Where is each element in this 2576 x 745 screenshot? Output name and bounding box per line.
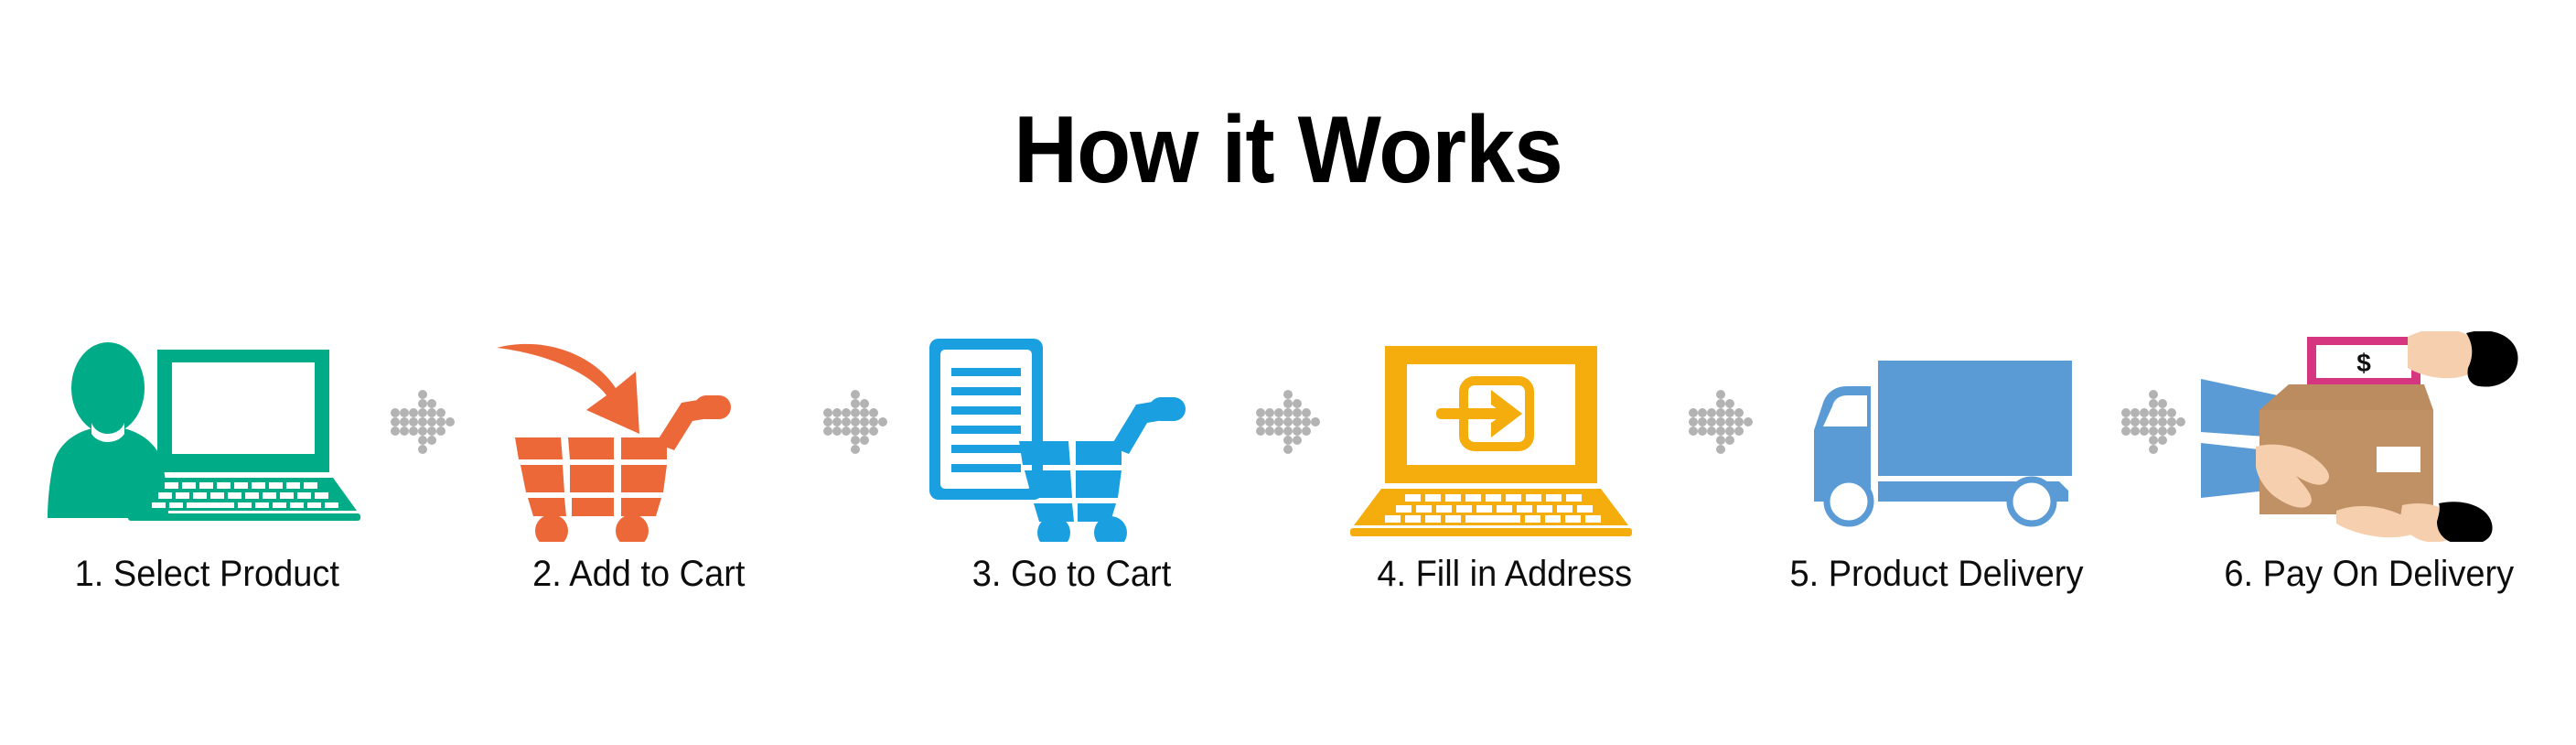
step-label: 4. Fill in Address — [1377, 553, 1632, 595]
separator-dotted-arrow-2 — [816, 302, 895, 595]
step-label: 1. Select Product — [74, 553, 338, 595]
how-it-works-infographic: How it Works — [0, 0, 2576, 745]
step-6-pay-on-delivery[interactable]: $ — [2199, 302, 2539, 595]
delivery-truck-icon — [1766, 331, 2107, 542]
dotted-arrow-right-icon — [1689, 390, 1753, 454]
add-to-cart-svg — [469, 331, 810, 542]
separator-dotted-arrow-5 — [2114, 302, 2193, 595]
step-2-add-to-cart[interactable]: 2. Add to Cart — [469, 302, 810, 595]
separator-dotted-arrow-4 — [1681, 302, 1760, 595]
dotted-arrow-right-icon — [823, 390, 887, 454]
dotted-arrow-right-icon — [2121, 390, 2185, 454]
hands-exchanging-box-and-cash-icon: $ — [2199, 331, 2539, 542]
step-label: 5. Product Delivery — [1790, 553, 2084, 595]
separator-dotted-arrow-3 — [1249, 302, 1327, 595]
step-label: 6. Pay On Delivery — [2225, 553, 2515, 595]
person-with-laptop-svg — [37, 331, 377, 542]
separator-dotted-arrow-1 — [383, 302, 462, 595]
fill-address-svg — [1334, 331, 1674, 542]
dotted-arrow-right-icon — [1256, 390, 1320, 454]
step-label: 3. Go to Cart — [972, 553, 1172, 595]
delivery-truck-svg — [1766, 331, 2107, 542]
go-to-cart-svg — [902, 331, 1242, 542]
step-3-go-to-cart[interactable]: 3. Go to Cart — [902, 302, 1242, 595]
pay-on-delivery-svg: $ — [2199, 331, 2539, 542]
laptop-with-login-arrow-icon — [1334, 331, 1674, 542]
person-with-laptop-icon — [37, 331, 377, 542]
step-4-fill-in-address[interactable]: 4. Fill in Address — [1334, 302, 1674, 595]
arrow-into-shopping-cart-icon — [469, 331, 810, 542]
steps-row: 1. Select Product — [37, 302, 2539, 595]
step-1-select-product[interactable]: 1. Select Product — [37, 302, 377, 595]
document-with-shopping-cart-icon — [902, 331, 1242, 542]
step-5-product-delivery[interactable]: 5. Product Delivery — [1766, 302, 2107, 595]
page-title: How it Works — [91, 103, 2486, 198]
dotted-arrow-right-icon — [391, 390, 455, 454]
step-label: 2. Add to Cart — [533, 553, 746, 595]
banknote-dollar-symbol: $ — [2356, 349, 2371, 377]
